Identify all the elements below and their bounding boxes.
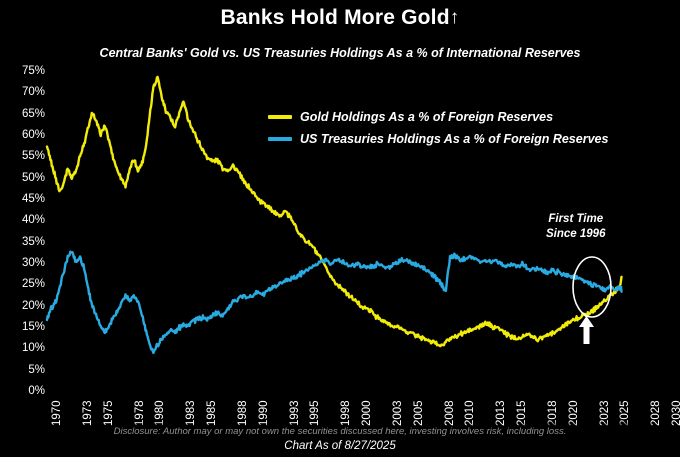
x-axis-tick-label: 1978 [135, 400, 147, 426]
x-axis-tick-label: 1980 [155, 400, 167, 426]
x-axis-tick-label: 2010 [465, 400, 477, 426]
x-axis-tick-label: 1993 [290, 400, 302, 426]
legend-swatch-icon [268, 137, 292, 141]
x-axis-tick-label: 2000 [362, 400, 374, 426]
y-axis-tick-label: 5% [1, 365, 45, 377]
y-axis-tick-label: 45% [1, 194, 45, 206]
title-up-arrow-icon: ↑ [450, 7, 460, 29]
y-axis-tick-label: 65% [1, 109, 45, 121]
x-axis-tick-label: 1990 [259, 400, 271, 426]
y-axis-tick-label: 60% [1, 130, 45, 142]
annotation-line-2: Since 1996 [546, 227, 605, 242]
y-axis-tick-label: 50% [1, 173, 45, 185]
x-axis-tick-label: 2013 [496, 400, 508, 426]
annotation-line-1: First Time [546, 212, 605, 227]
x-axis-tick-label: 2020 [569, 400, 581, 426]
x-axis-tick-label: 1995 [310, 400, 322, 426]
x-axis-tick-label: 1970 [52, 400, 64, 426]
x-axis-tick-label: 2018 [548, 400, 560, 426]
legend-label: US Treasuries Holdings As a % of Foreign… [300, 132, 608, 146]
y-axis-tick-label: 25% [1, 279, 45, 291]
x-axis-tick-label: 2023 [600, 400, 612, 426]
legend-item-us-treasuries[interactable]: US Treasuries Holdings As a % of Foreign… [268, 128, 668, 150]
x-axis-tick-label: 2008 [445, 400, 457, 426]
x-axis-tick-label: 1998 [341, 400, 353, 426]
y-axis: 0%5%10%15%20%25%30%35%40%45%50%55%60%65%… [0, 72, 45, 392]
x-axis-tick-label: 2005 [414, 400, 426, 426]
legend-swatch-icon [268, 115, 292, 119]
y-axis-tick-label: 20% [1, 301, 45, 313]
x-axis-tick-label: 2025 [620, 400, 632, 426]
y-axis-tick-label: 55% [1, 151, 45, 163]
chart-date-text: Chart As of 8/27/2025 [0, 440, 680, 452]
chart-title: Banks Hold More Gold↑ [0, 6, 680, 30]
y-axis-tick-label: 0% [1, 386, 45, 398]
chart-container: Banks Hold More Gold↑ Central Banks' Gol… [0, 0, 680, 457]
y-axis-tick-label: 35% [1, 237, 45, 249]
disclaimer-text: Disclosure: Author may or may not own th… [0, 426, 680, 437]
y-axis-tick-label: 40% [1, 215, 45, 227]
x-axis-tick-label: 2030 [672, 400, 680, 426]
x-axis: 1970197319751978198019831985198819901993… [47, 392, 667, 428]
x-axis-tick-label: 2003 [393, 400, 405, 426]
annotation-first-time-since-1996: First Time Since 1996 [546, 212, 605, 242]
x-axis-tick-label: 2028 [651, 400, 663, 426]
x-axis-tick-label: 2015 [517, 400, 529, 426]
y-axis-tick-label: 30% [1, 258, 45, 270]
y-axis-tick-label: 10% [1, 343, 45, 355]
x-axis-tick-label: 1988 [238, 400, 250, 426]
x-axis-tick-label: 1983 [186, 400, 198, 426]
y-axis-tick-label: 75% [1, 66, 45, 78]
chart-legend: Gold Holdings As a % of Foreign Reserves… [268, 106, 668, 150]
y-axis-tick-label: 70% [1, 87, 45, 99]
chart-subtitle: Central Banks' Gold vs. US Treasuries Ho… [0, 46, 680, 60]
legend-item-gold[interactable]: Gold Holdings As a % of Foreign Reserves [268, 106, 668, 128]
y-axis-tick-label: 15% [1, 322, 45, 334]
x-axis-tick-label: 1973 [83, 400, 95, 426]
x-axis-tick-label: 1985 [207, 400, 219, 426]
x-axis-tick-label: 1975 [104, 400, 116, 426]
chart-title-text: Banks Hold More Gold [221, 6, 450, 29]
legend-label: Gold Holdings As a % of Foreign Reserves [300, 110, 553, 124]
